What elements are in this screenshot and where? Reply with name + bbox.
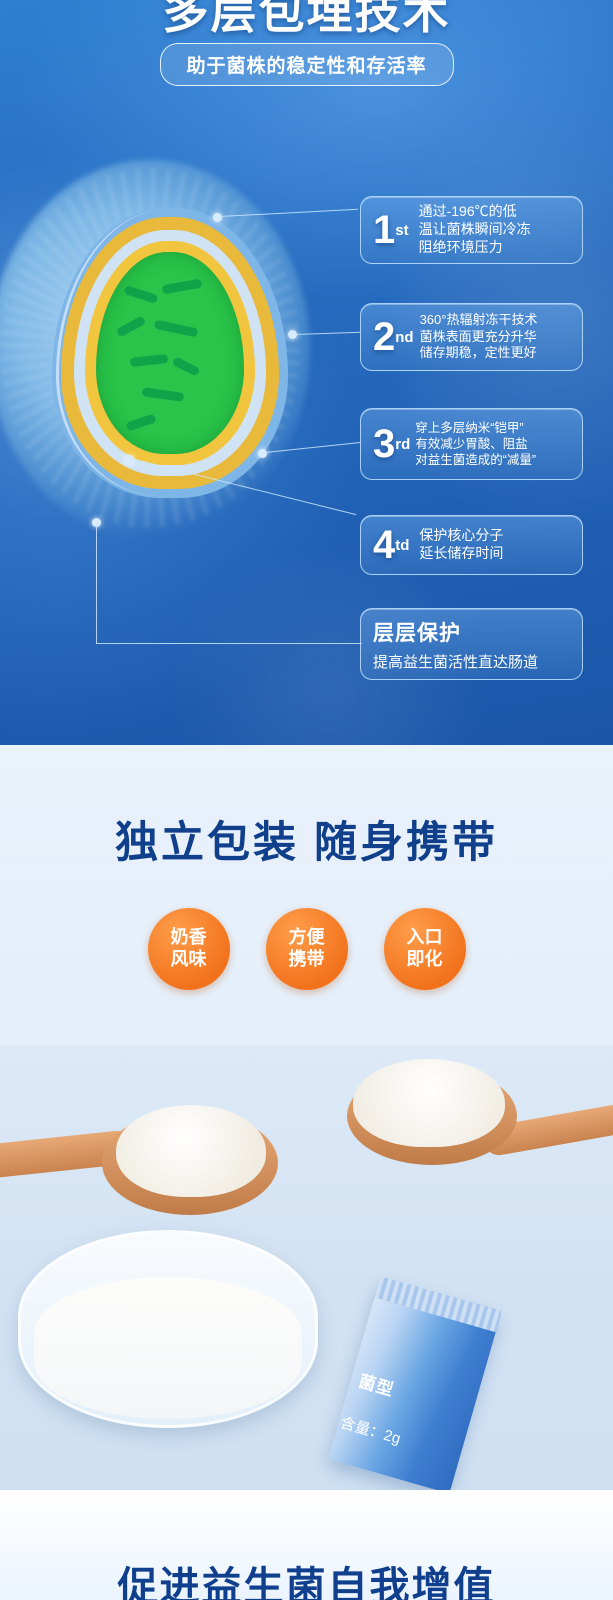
section-independent-packaging: 独立包装 随身携带 奶香 风味 方便 携带 入口 即化 菌型 含量：: [0, 745, 613, 1490]
probiotic-sphere-illustration: [0, 160, 320, 560]
feature-card-3-ordinal: rd: [395, 436, 410, 453]
section3-title: 促进益生菌自我增值: [0, 1554, 613, 1600]
feature-card-2-number: 2: [373, 317, 395, 357]
feature-card-4-text: 保护核心分子 延长储存时间: [419, 527, 503, 563]
connector-line-5-horizontal: [96, 643, 362, 644]
product-detail-page: 多层包埋技术 助于菌株的稳定性和存活率: [0, 0, 613, 1600]
section1-subtitle: 助于菌株的稳定性和存活率: [159, 43, 453, 86]
badge-portable: 方便 携带: [266, 908, 348, 990]
badge-dissolves: 入口 即化: [384, 908, 466, 990]
summary-card-heading: 层层保护: [373, 617, 461, 647]
product-photo: 菌型 含量：2g: [0, 1045, 613, 1490]
milk-liquid: [34, 1277, 302, 1419]
connector-dot-1: [213, 213, 222, 222]
powder-heap: [116, 1105, 266, 1197]
feature-card-2-text: 360°热辐射冻干技术 菌株表面更充分升华 储存期稳，定性更好: [420, 312, 538, 362]
feature-card-1: 1 st 通过-196℃的低 温让菌株瞬间冷冻 阻绝环境压力: [360, 196, 583, 264]
feature-card-4: 4 td 保护核心分子 延长储存时间: [360, 515, 583, 575]
feature-badge-list: 奶香 风味 方便 携带 入口 即化: [0, 908, 613, 990]
feature-card-2-ordinal: nd: [395, 329, 413, 346]
capsule-cutaway: [52, 208, 288, 498]
connector-dot-3: [258, 449, 267, 458]
product-sachet: 菌型 含量：2g: [328, 1276, 501, 1490]
sachet-label-line2: 含量：2g: [338, 1411, 403, 1448]
badge-milk-flavor: 奶香 风味: [148, 908, 230, 990]
section-probiotic-growth: 促进益生菌自我增值: [0, 1490, 613, 1600]
feature-card-3-number: 3: [373, 424, 395, 464]
sachet-crimp: [375, 1276, 502, 1332]
feature-card-1-text: 通过-196℃的低 温让菌株瞬间冷冻 阻绝环境压力: [419, 203, 531, 257]
feature-card-3: 3 rd 穿上多层纳米“铠甲” 有效减少胃酸、阻盐 对益生菌造成的“减量”: [360, 408, 583, 480]
section-multilayer-encapsulation: 多层包埋技术 助于菌株的稳定性和存活率: [0, 0, 613, 745]
feature-card-4-number: 4: [373, 525, 395, 565]
wooden-spoon-left: [0, 1103, 284, 1219]
sachet-label-line1: 菌型: [356, 1367, 397, 1401]
section2-title: 独立包装 随身携带: [0, 808, 613, 870]
summary-card-text: 提高益生菌活性直达肠道: [373, 651, 538, 672]
wooden-spoon-right: [333, 1053, 613, 1173]
feature-card-2: 2 nd 360°热辐射冻干技术 菌株表面更充分升华 储存期稳，定性更好: [360, 303, 583, 371]
summary-card: 层层保护 提高益生菌活性直达肠道: [360, 608, 583, 680]
powder-heap: [353, 1059, 505, 1147]
section1-title: 多层包埋技术: [0, 0, 613, 42]
feature-card-1-number: 1: [373, 210, 395, 250]
connector-line-5-vertical: [96, 522, 97, 644]
feature-card-4-ordinal: td: [395, 537, 409, 554]
feature-card-1-ordinal: st: [395, 222, 408, 239]
feature-card-3-text: 穿上多层纳米“铠甲” 有效减少胃酸、阻盐 对益生菌造成的“减量”: [415, 420, 536, 468]
